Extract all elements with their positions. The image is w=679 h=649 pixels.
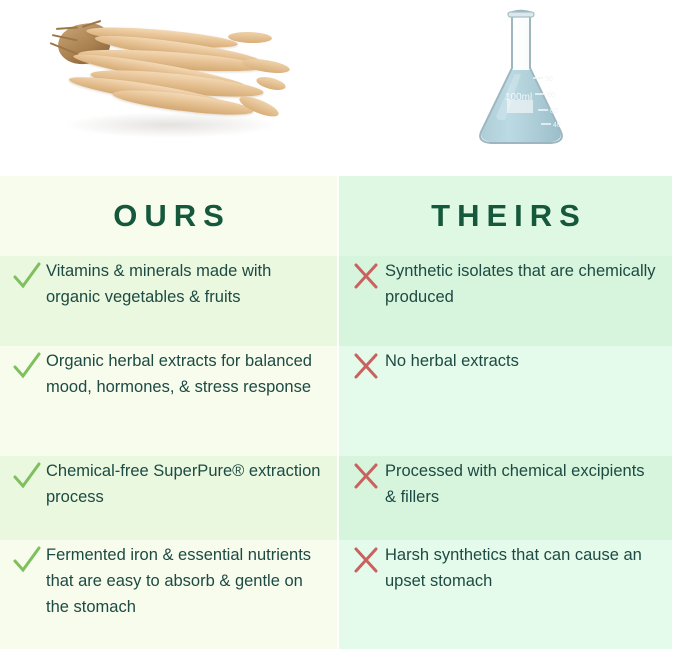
row-text: Vitamins & minerals made with organic ve… (46, 256, 323, 346)
comparison-row: Chemical-free SuperPure® extraction proc… (0, 456, 337, 540)
comparison-row: Organic herbal extracts for balanced moo… (0, 346, 337, 456)
comparison-row: Processed with chemical excipients & fil… (339, 456, 672, 540)
root-tip (241, 56, 290, 75)
flask-lip (508, 12, 534, 17)
comparison-table: OURS Vitamins & minerals made with organ… (0, 176, 679, 649)
hero-cell-ours (0, 0, 339, 176)
theirs-rows: Synthetic isolates that are chemically p… (339, 256, 672, 649)
flask-grad-label: 80 (547, 92, 555, 99)
row-text: Organic herbal extracts for balanced moo… (46, 346, 323, 456)
row-text: Fermented iron & essential nutrients tha… (46, 540, 323, 649)
column-header-label: OURS (106, 198, 231, 234)
comparison-row: No herbal extracts (339, 346, 672, 456)
hero-cell-theirs: 90 80 60 40 100ml (339, 0, 679, 176)
root-bundle-photo (42, 8, 302, 148)
flask-grad-label: 40 (553, 122, 561, 129)
comparison-column-theirs: THEIRS Synthetic isolates that are chemi… (339, 176, 672, 649)
flask-grad-label: 90 (545, 76, 553, 83)
row-text: Chemical-free SuperPure® extraction proc… (46, 456, 323, 540)
column-header-ours: OURS (0, 176, 337, 256)
comparison-column-ours: OURS Vitamins & minerals made with organ… (0, 176, 337, 649)
flask-grad-label: 60 (550, 108, 558, 115)
column-header-label: THEIRS (424, 198, 587, 234)
check-icon (12, 540, 46, 649)
ours-rows: Vitamins & minerals made with organic ve… (0, 256, 337, 649)
check-icon (12, 346, 46, 456)
row-text: Harsh synthetics that can cause an upset… (385, 540, 658, 649)
check-icon (12, 256, 46, 346)
row-text: No herbal extracts (385, 346, 658, 456)
photo-shadow (64, 112, 278, 138)
cross-icon (351, 256, 385, 346)
hero-image-band: 90 80 60 40 100ml (0, 0, 679, 176)
flask-svg: 90 80 60 40 100ml (465, 4, 577, 170)
column-header-theirs: THEIRS (339, 176, 672, 256)
check-icon (12, 456, 46, 540)
comparison-row: Harsh synthetics that can cause an upset… (339, 540, 672, 649)
erlenmeyer-flask-photo: 90 80 60 40 100ml (465, 4, 577, 170)
row-text: Synthetic isolates that are chemically p… (385, 256, 658, 346)
comparison-row: Vitamins & minerals made with organic ve… (0, 256, 337, 346)
cross-icon (351, 540, 385, 649)
cross-icon (351, 456, 385, 540)
cross-icon (351, 346, 385, 456)
row-text: Processed with chemical excipients & fil… (385, 456, 658, 540)
comparison-row: Synthetic isolates that are chemically p… (339, 256, 672, 346)
comparison-row: Fermented iron & essential nutrients tha… (0, 540, 337, 649)
